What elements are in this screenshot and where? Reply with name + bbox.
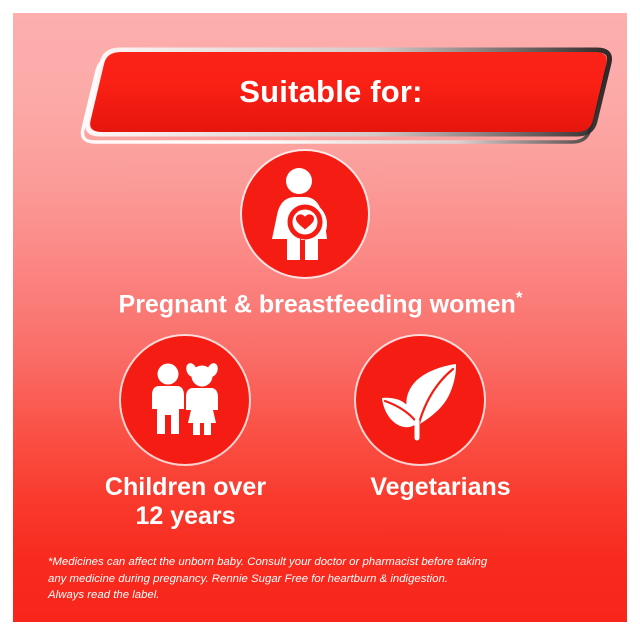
footnote-line-3: Always read the label. — [48, 587, 563, 604]
footnote-marker: * — [516, 288, 523, 307]
footnote-line-1: *Medicines can affect the unborn baby. C… — [48, 554, 563, 571]
caption-children: Children over 12 years — [58, 473, 313, 531]
suitable-for-infographic: Suitable for: Pregnant & breastfeeding w… — [0, 0, 640, 640]
caption-pregnant-text: Pregnant & breastfeeding women — [119, 290, 516, 318]
gradient-panel: Suitable for: Pregnant & breastfeeding w… — [13, 13, 627, 622]
header-ribbon: Suitable for: — [71, 44, 616, 150]
icon-circle-children — [121, 336, 249, 464]
footnote: *Medicines can affect the unborn baby. C… — [48, 554, 563, 604]
caption-children-line2: 12 years — [135, 502, 235, 530]
footnote-line-2: any medicine during pregnancy. Rennie Su… — [48, 571, 563, 588]
pregnant-woman-icon — [265, 168, 345, 260]
leaves-icon — [377, 358, 463, 442]
caption-vegetarians: Vegetarians — [313, 473, 568, 502]
two-children-icon — [145, 360, 225, 440]
icon-circle-vegetarians — [356, 336, 484, 464]
icon-circle-pregnant — [242, 151, 368, 277]
caption-pregnant: Pregnant & breastfeeding women* — [43, 288, 598, 319]
caption-children-line1: Children over — [105, 473, 266, 501]
page-title: Suitable for: — [71, 74, 591, 110]
